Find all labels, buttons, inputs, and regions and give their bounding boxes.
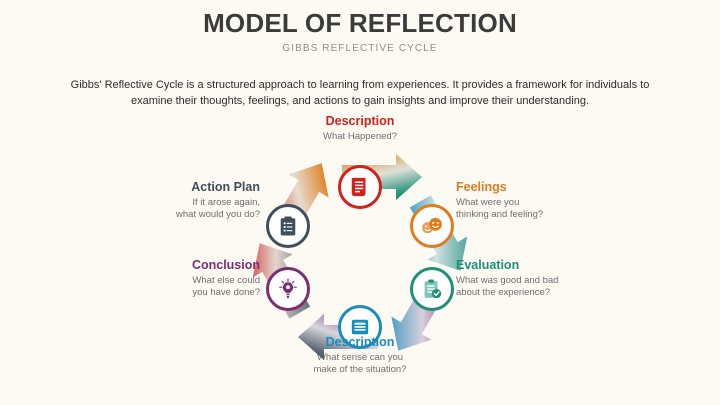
question-action-plan-line2: what would you do?	[90, 209, 260, 221]
header: MODEL OF REFLECTION GIBBS REFLECTIVE CYC…	[0, 8, 720, 55]
label-feelings: Feelings	[456, 180, 656, 195]
question-feelings-line2: thinking and feeling?	[456, 209, 656, 221]
label-description-top: Description	[250, 114, 470, 129]
node-action-plan[interactable]	[266, 204, 310, 248]
intro-paragraph: Gibbs' Reflective Cycle is a structured …	[58, 78, 662, 109]
question-description-top: What Happened?	[250, 131, 470, 143]
cycle-diagram: Description What Happened? Feelings What…	[0, 112, 720, 402]
text-conclusion: Conclusion What else could you have done…	[100, 258, 260, 299]
question-action-plan-line1: If it arose again,	[90, 197, 260, 209]
question-conclusion-line1: What else could	[100, 275, 260, 287]
question-description-bottom-line1: What sense can you	[260, 352, 460, 364]
question-evaluation-line1: What was good and bad	[456, 275, 676, 287]
node-description-top[interactable]	[338, 165, 382, 209]
question-feelings-line1: What were you	[456, 197, 656, 209]
scroll-document-icon	[349, 176, 371, 198]
page-subtitle: GIBBS REFLECTIVE CYCLE	[0, 43, 720, 55]
label-action-plan: Action Plan	[90, 180, 260, 195]
text-description-top: Description What Happened?	[250, 114, 470, 143]
label-evaluation: Evaluation	[456, 258, 676, 273]
node-evaluation[interactable]	[410, 267, 454, 311]
question-description-bottom-line2: make of the situation?	[260, 364, 460, 376]
text-action-plan: Action Plan If it arose again, what woul…	[90, 180, 260, 221]
lightbulb-icon	[277, 278, 299, 300]
clipboard-checklist-icon	[278, 215, 298, 237]
text-lines-document-icon	[349, 317, 371, 337]
slide-canvas: MODEL OF REFLECTION GIBBS REFLECTIVE CYC…	[0, 0, 720, 405]
label-conclusion: Conclusion	[100, 258, 260, 273]
question-conclusion-line2: you have done?	[100, 287, 260, 299]
text-description-bottom: Description What sense can you make of t…	[260, 335, 460, 376]
text-evaluation: Evaluation What was good and bad about t…	[456, 258, 676, 299]
smiley-faces-icon	[420, 216, 444, 236]
question-evaluation-line2: about the experience?	[456, 287, 676, 299]
node-feelings[interactable]	[410, 204, 454, 248]
node-conclusion[interactable]	[266, 267, 310, 311]
checklist-clipboard-icon	[421, 278, 443, 300]
label-description-bottom: Description	[260, 335, 460, 350]
text-feelings: Feelings What were you thinking and feel…	[456, 180, 656, 221]
page-title: MODEL OF REFLECTION	[0, 8, 720, 38]
